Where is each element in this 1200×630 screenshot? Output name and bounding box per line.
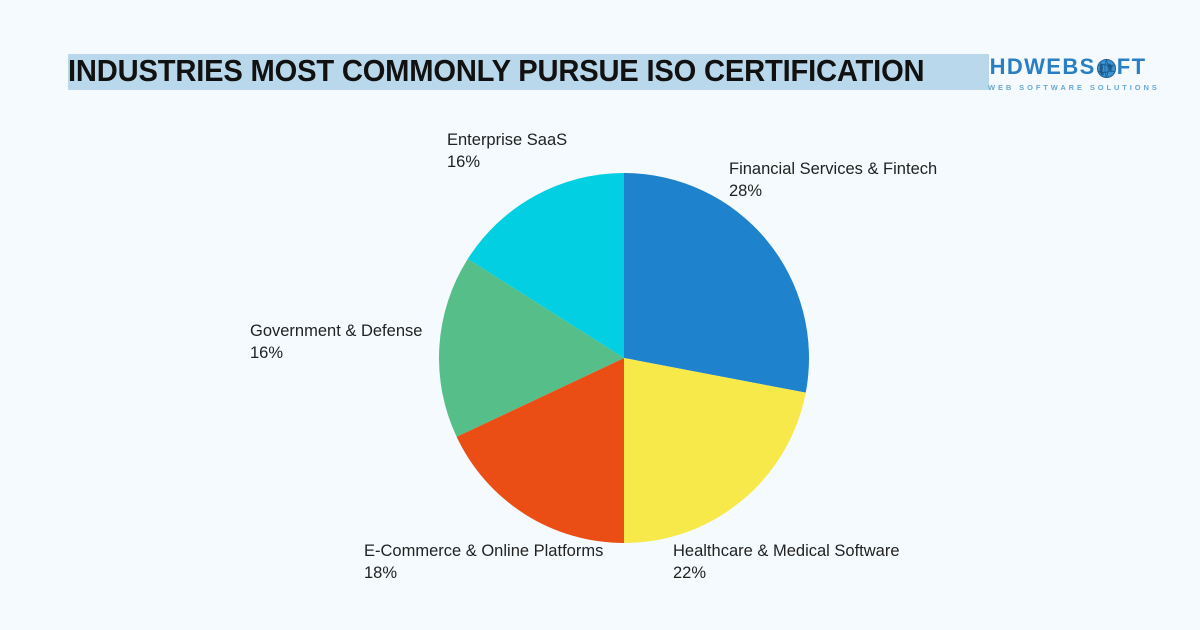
pie-label-healthcare-medical-software: Healthcare & Medical Software 22% [673, 540, 900, 584]
pie-label-value: 28% [729, 180, 937, 202]
pie-label-text: Healthcare & Medical Software [673, 542, 900, 560]
pie-label-text: Enterprise SaaS [447, 131, 567, 149]
pie-slice[interactable] [624, 173, 809, 393]
pie-label-text: Financial Services & Fintech [729, 160, 937, 178]
pie-label-value: 16% [447, 151, 567, 173]
pie-label-value: 18% [364, 562, 603, 584]
pie-slice-group [439, 173, 809, 543]
pie-chart-svg [439, 173, 809, 543]
pie-label-enterprise-saas: Enterprise SaaS 16% [447, 129, 567, 173]
pie-label-value: 16% [250, 342, 422, 364]
pie-label-government-defense: Government & Defense 16% [250, 320, 422, 364]
pie-label-text: E-Commerce & Online Platforms [364, 542, 603, 560]
pie-label-financial-services-fintech: Financial Services & Fintech 28% [729, 158, 937, 202]
pie-chart: Financial Services & Fintech 28% Healthc… [0, 0, 1200, 630]
pie-label-ecommerce-online-platforms: E-Commerce & Online Platforms 18% [364, 540, 603, 584]
pie-label-text: Government & Defense [250, 322, 422, 340]
pie-label-value: 22% [673, 562, 900, 584]
